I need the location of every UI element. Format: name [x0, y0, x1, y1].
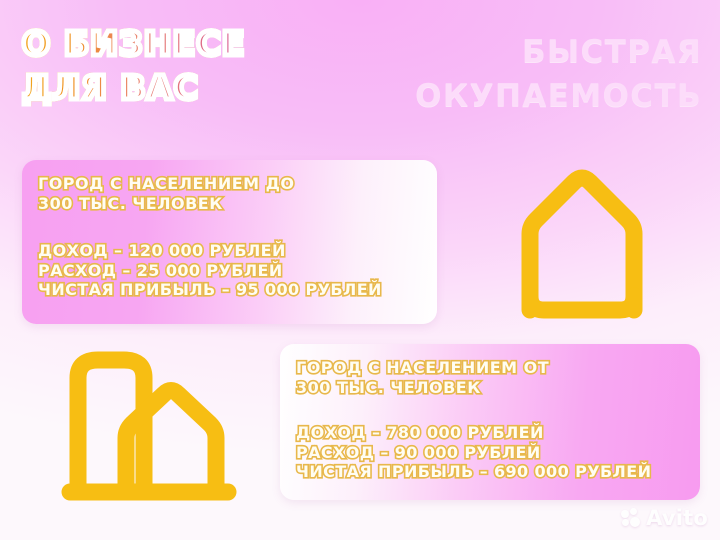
card-title-line2: 300 ТЫС. ЧЕЛОВЕК	[38, 194, 421, 214]
heading-right-line2: ОКУПАЕМОСТЬ	[282, 74, 702, 118]
card-title-line1: ГОРОД С НАСЕЛЕНИЕМ ДО	[38, 174, 421, 194]
house-outline-icon	[512, 164, 652, 320]
stat-income: ДОХОД – 780 000 РУБЛЕЙ	[296, 423, 684, 443]
heading-right-line1: БЫСТРАЯ	[282, 30, 702, 74]
buildings-outline-icon	[60, 346, 248, 504]
info-card-large-city: ГОРОД С НАСЕЛЕНИЕМ ОТ 300 ТЫС. ЧЕЛОВЕК Д…	[280, 344, 700, 500]
card-content: ГОРОД С НАСЕЛЕНИЕМ ОТ 300 ТЫС. ЧЕЛОВЕК Д…	[280, 344, 700, 494]
card-title-line1: ГОРОД С НАСЕЛЕНИЕМ ОТ	[296, 358, 684, 378]
card-content: ГОРОД С НАСЕЛЕНИЕМ ДО 300 ТЫС. ЧЕЛОВЕК Д…	[22, 160, 437, 312]
card-stats: ДОХОД – 780 000 РУБЛЕЙ РАСХОД – 90 000 Р…	[296, 423, 684, 482]
avito-watermark: Avito	[621, 506, 708, 530]
stat-income: ДОХОД – 120 000 РУБЛЕЙ	[38, 241, 421, 261]
card-stats: ДОХОД – 120 000 РУБЛЕЙ РАСХОД – 25 000 Р…	[38, 241, 421, 300]
avito-dots-logo	[621, 508, 641, 528]
info-card-small-city: ГОРОД С НАСЕЛЕНИЕМ ДО 300 ТЫС. ЧЕЛОВЕК Д…	[22, 160, 437, 324]
stat-net-profit: ЧИСТАЯ ПРИБЫЛЬ – 95 000 РУБЛЕЙ	[38, 280, 421, 300]
avito-watermark-text: Avito	[646, 506, 708, 530]
promo-poster: О БИЗНЕСЕ ДЛЯ ВАС БЫСТРАЯ ОКУПАЕМОСТЬ ГО…	[0, 0, 720, 540]
stat-net-profit: ЧИСТАЯ ПРИБЫЛЬ – 690 000 РУБЛЕЙ	[296, 462, 684, 482]
card-title-line2: 300 ТЫС. ЧЕЛОВЕК	[296, 378, 684, 398]
heading-right: БЫСТРАЯ ОКУПАЕМОСТЬ	[282, 30, 702, 118]
card-title: ГОРОД С НАСЕЛЕНИЕМ ОТ 300 ТЫС. ЧЕЛОВЕК	[296, 358, 684, 397]
card-title: ГОРОД С НАСЕЛЕНИЕМ ДО 300 ТЫС. ЧЕЛОВЕК	[38, 174, 421, 213]
stat-expense: РАСХОД – 90 000 РУБЛЕЙ	[296, 443, 684, 463]
stat-expense: РАСХОД – 25 000 РУБЛЕЙ	[38, 261, 421, 281]
